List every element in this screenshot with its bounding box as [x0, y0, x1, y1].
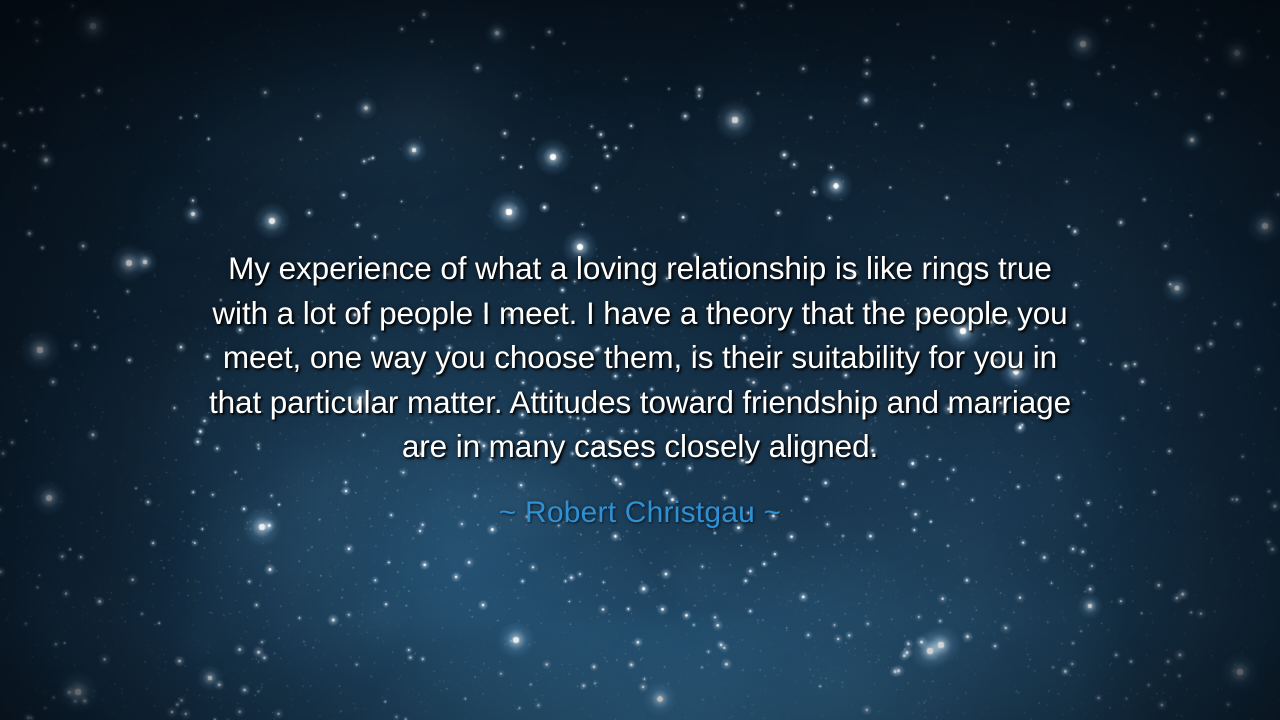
- quote-card: My experience of what a loving relations…: [0, 0, 1280, 720]
- quote-attribution: ~ Robert Christgau ~: [60, 469, 1220, 531]
- quote-text: My experience of what a loving relations…: [130, 246, 1150, 469]
- quote-block: My experience of what a loving relations…: [0, 246, 1280, 531]
